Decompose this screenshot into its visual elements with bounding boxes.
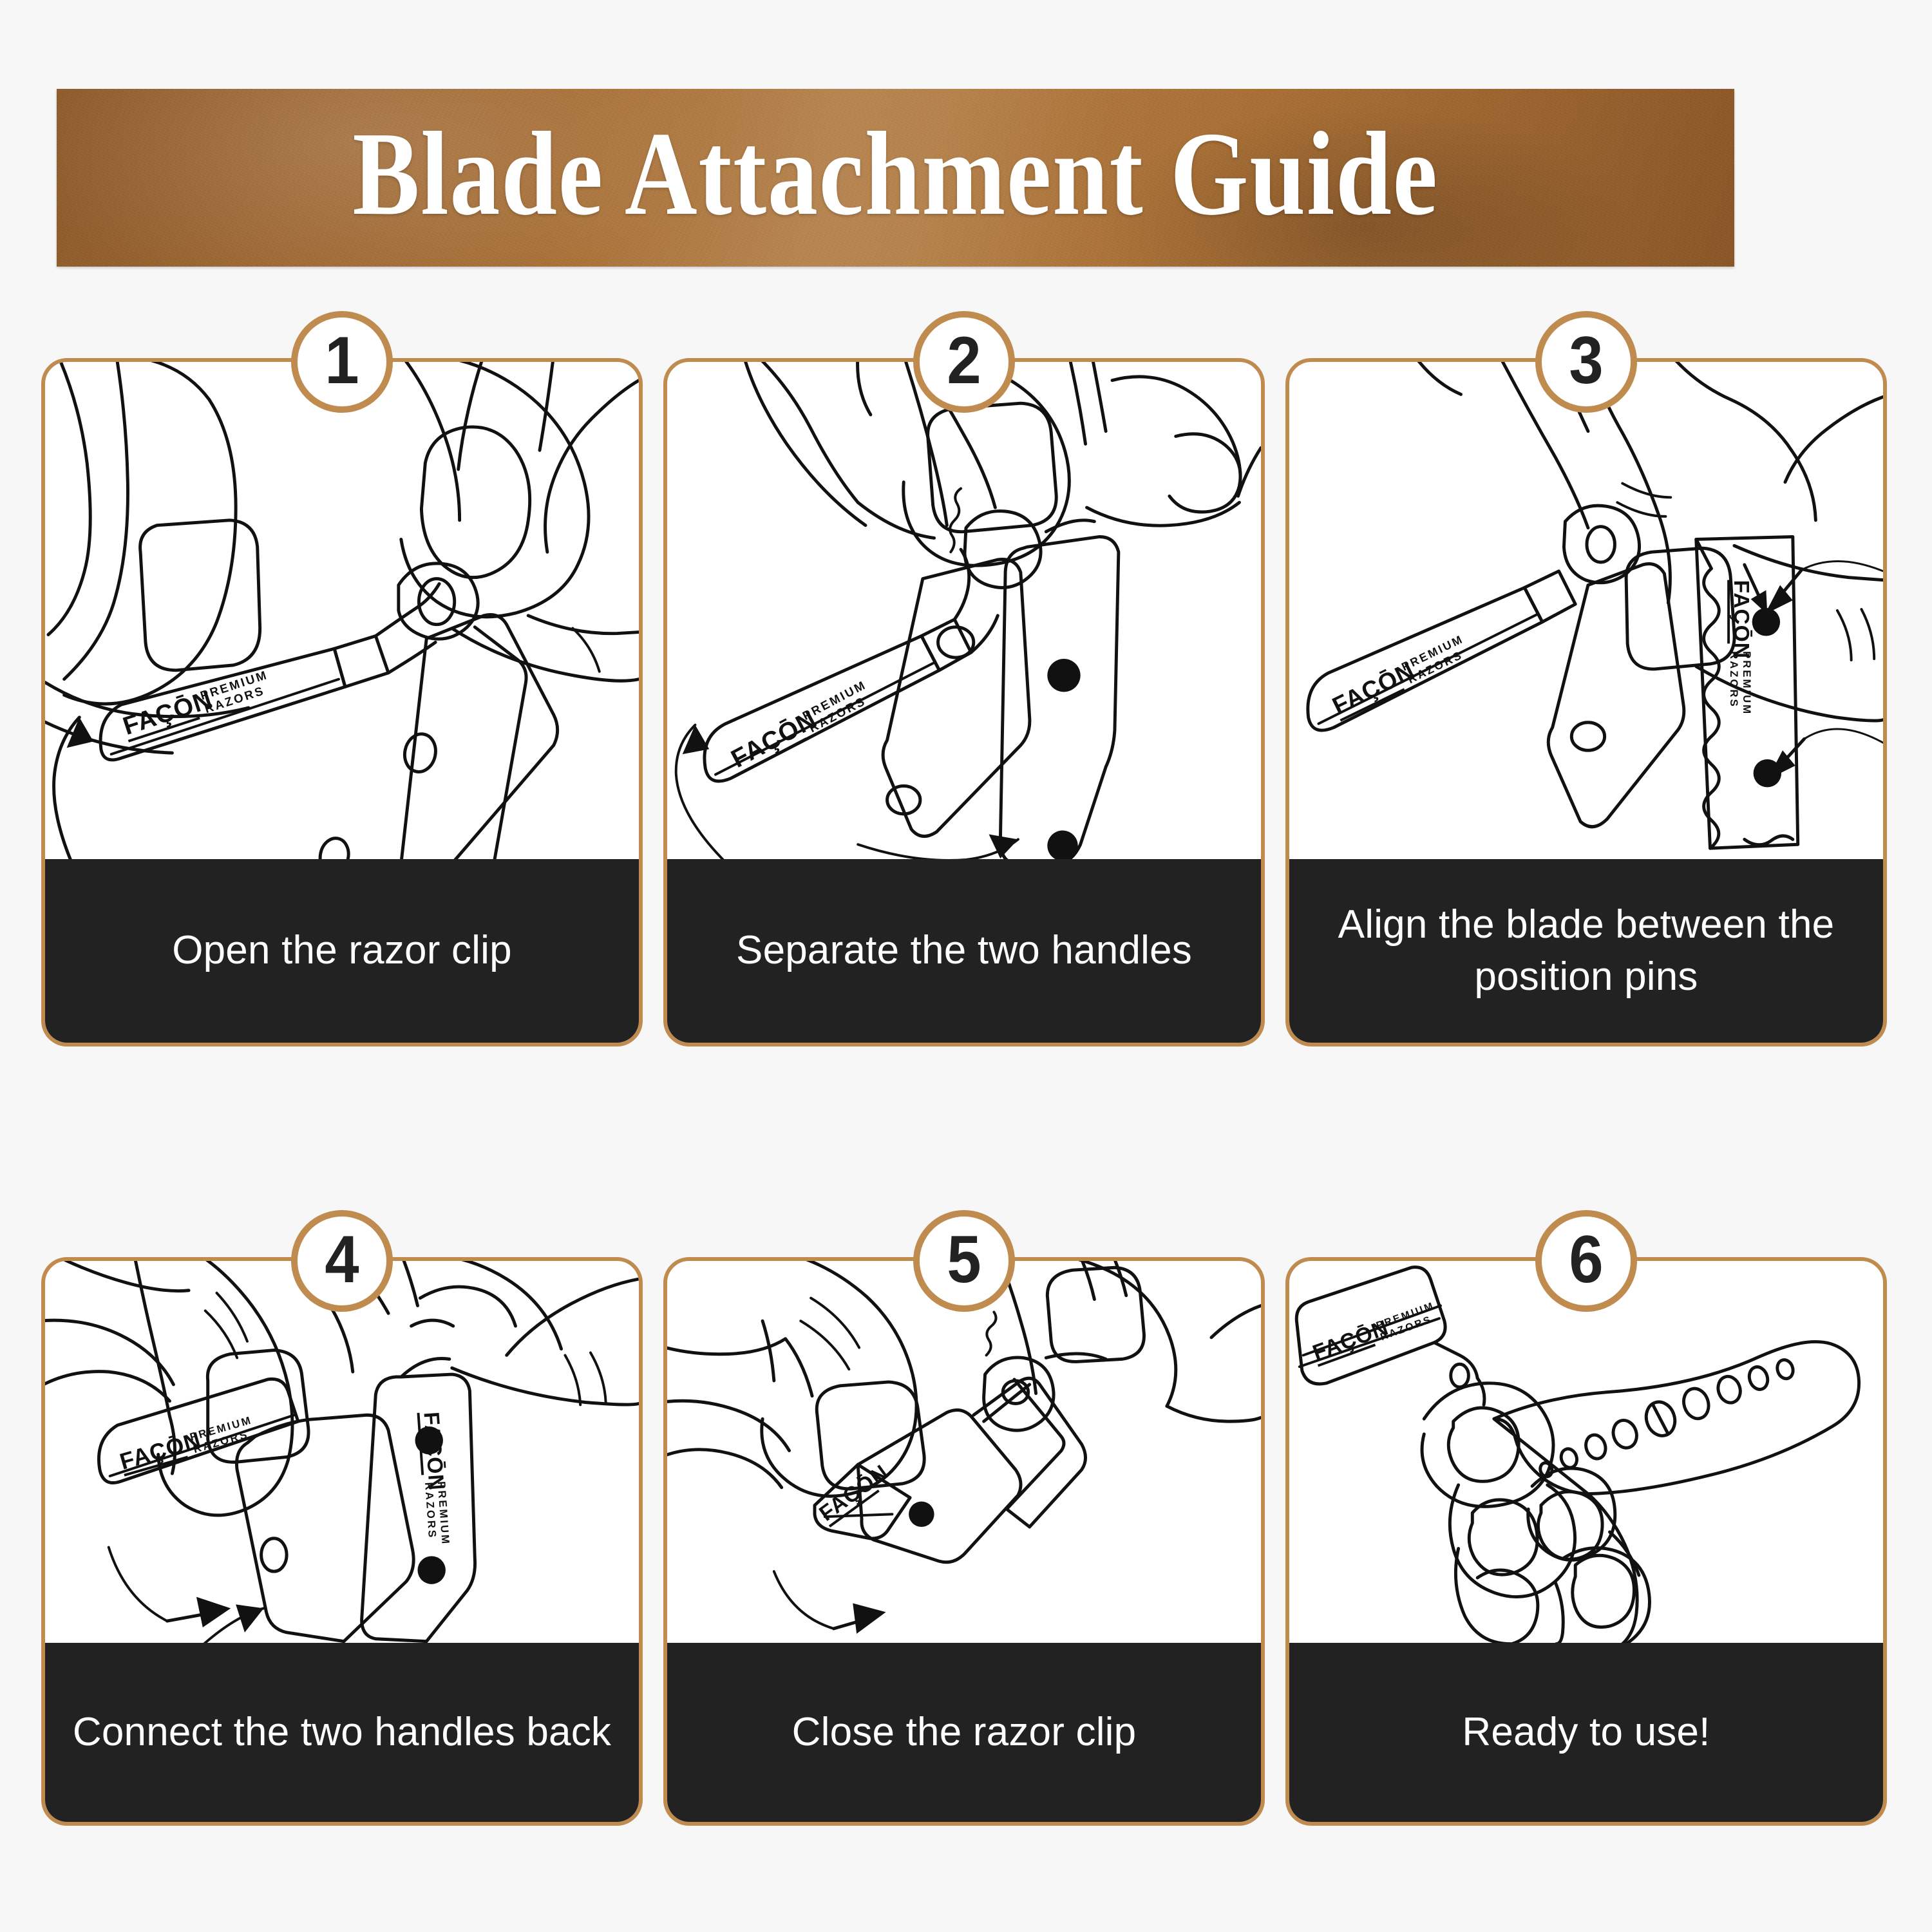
step-number-2: 2 <box>947 327 981 394</box>
step-illustration-2: FAÇŌN PREMIUM RAZORS <box>667 362 1261 859</box>
step-number-badge-6: 6 <box>1535 1210 1637 1312</box>
step-number-5: 5 <box>947 1226 981 1293</box>
step-caption-5: Close the razor clip <box>667 1643 1261 1822</box>
step-caption-6: Ready to use! <box>1289 1643 1883 1822</box>
step-card-5[interactable]: 5 <box>663 1257 1265 1826</box>
step-illustration-3: FAÇŌN PREMIUM RAZORS FAÇŌN PREMIUM RAZOR… <box>1289 362 1883 859</box>
step-card-6[interactable]: 6 <box>1285 1257 1887 1826</box>
step-card-4[interactable]: 4 <box>41 1257 643 1826</box>
svg-text:FAÇŌN: FAÇŌN <box>1729 580 1753 659</box>
step-number-badge-2: 2 <box>913 311 1015 413</box>
title-banner: Blade Attachment Guide <box>57 89 1734 267</box>
step-number-badge-3: 3 <box>1535 311 1637 413</box>
svg-text:RAZORS: RAZORS <box>1728 651 1740 708</box>
step-illustration-6: FAÇŌN PREMIUM RAZORS <box>1289 1261 1883 1643</box>
step-illustration-1: FAÇŌN PREMIUM RAZORS <box>45 362 639 859</box>
svg-text:PREMIUM: PREMIUM <box>1741 651 1753 715</box>
step-number-3: 3 <box>1569 327 1603 394</box>
svg-text:FAÇŌN: FAÇŌN <box>419 1411 448 1492</box>
step-caption-1: Open the razor clip <box>45 859 639 1043</box>
step-number-6: 6 <box>1569 1226 1603 1293</box>
step-illustration-4: FAÇŌN PREMIUM RAZORS FAÇŌN PREMIUM RAZOR… <box>45 1261 639 1643</box>
page-title: Blade Attachment Guide <box>191 89 1600 267</box>
step-number-1: 1 <box>325 327 359 394</box>
step-card-1[interactable]: 1 <box>41 358 643 1046</box>
step-number-4: 4 <box>325 1226 359 1293</box>
step-number-badge-5: 5 <box>913 1210 1015 1312</box>
step-card-2[interactable]: 2 <box>663 358 1265 1046</box>
step-caption-3: Align the blade between the position pin… <box>1289 859 1883 1043</box>
step-illustration-5: FAÇŌN <box>667 1261 1261 1643</box>
step-number-badge-4: 4 <box>291 1210 393 1312</box>
step-caption-2: Separate the two handles <box>667 859 1261 1043</box>
steps-grid: 1 <box>41 358 1891 1826</box>
step-number-badge-1: 1 <box>291 311 393 413</box>
step-card-3[interactable]: 3 <box>1285 358 1887 1046</box>
step-caption-4: Connect the two handles back <box>45 1643 639 1822</box>
